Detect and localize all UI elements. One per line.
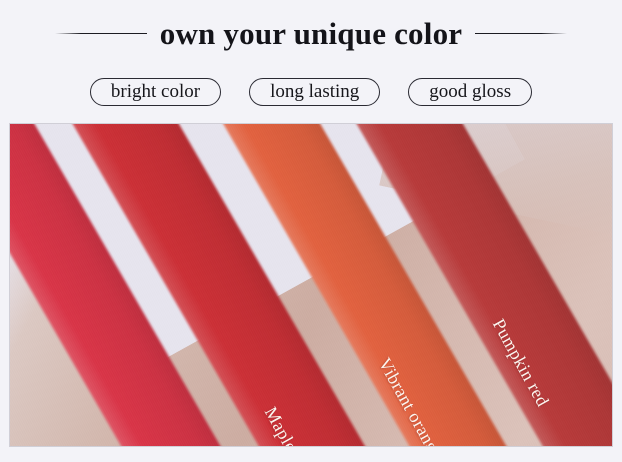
page-title: own your unique color <box>160 18 462 49</box>
feature-badge-row: bright color long lasting good gloss <box>0 76 622 108</box>
badge-long-lasting[interactable]: long lasting <box>249 78 380 106</box>
badge-bright-color[interactable]: bright color <box>90 78 221 106</box>
badge-good-gloss[interactable]: good gloss <box>408 78 532 106</box>
page-header: own your unique color <box>0 0 622 66</box>
swatch-photo: Bean redMaple leaf redVibrant orangePump… <box>10 124 612 446</box>
decorative-rule-right-icon <box>475 33 567 34</box>
decorative-rule-left-icon <box>55 33 147 34</box>
